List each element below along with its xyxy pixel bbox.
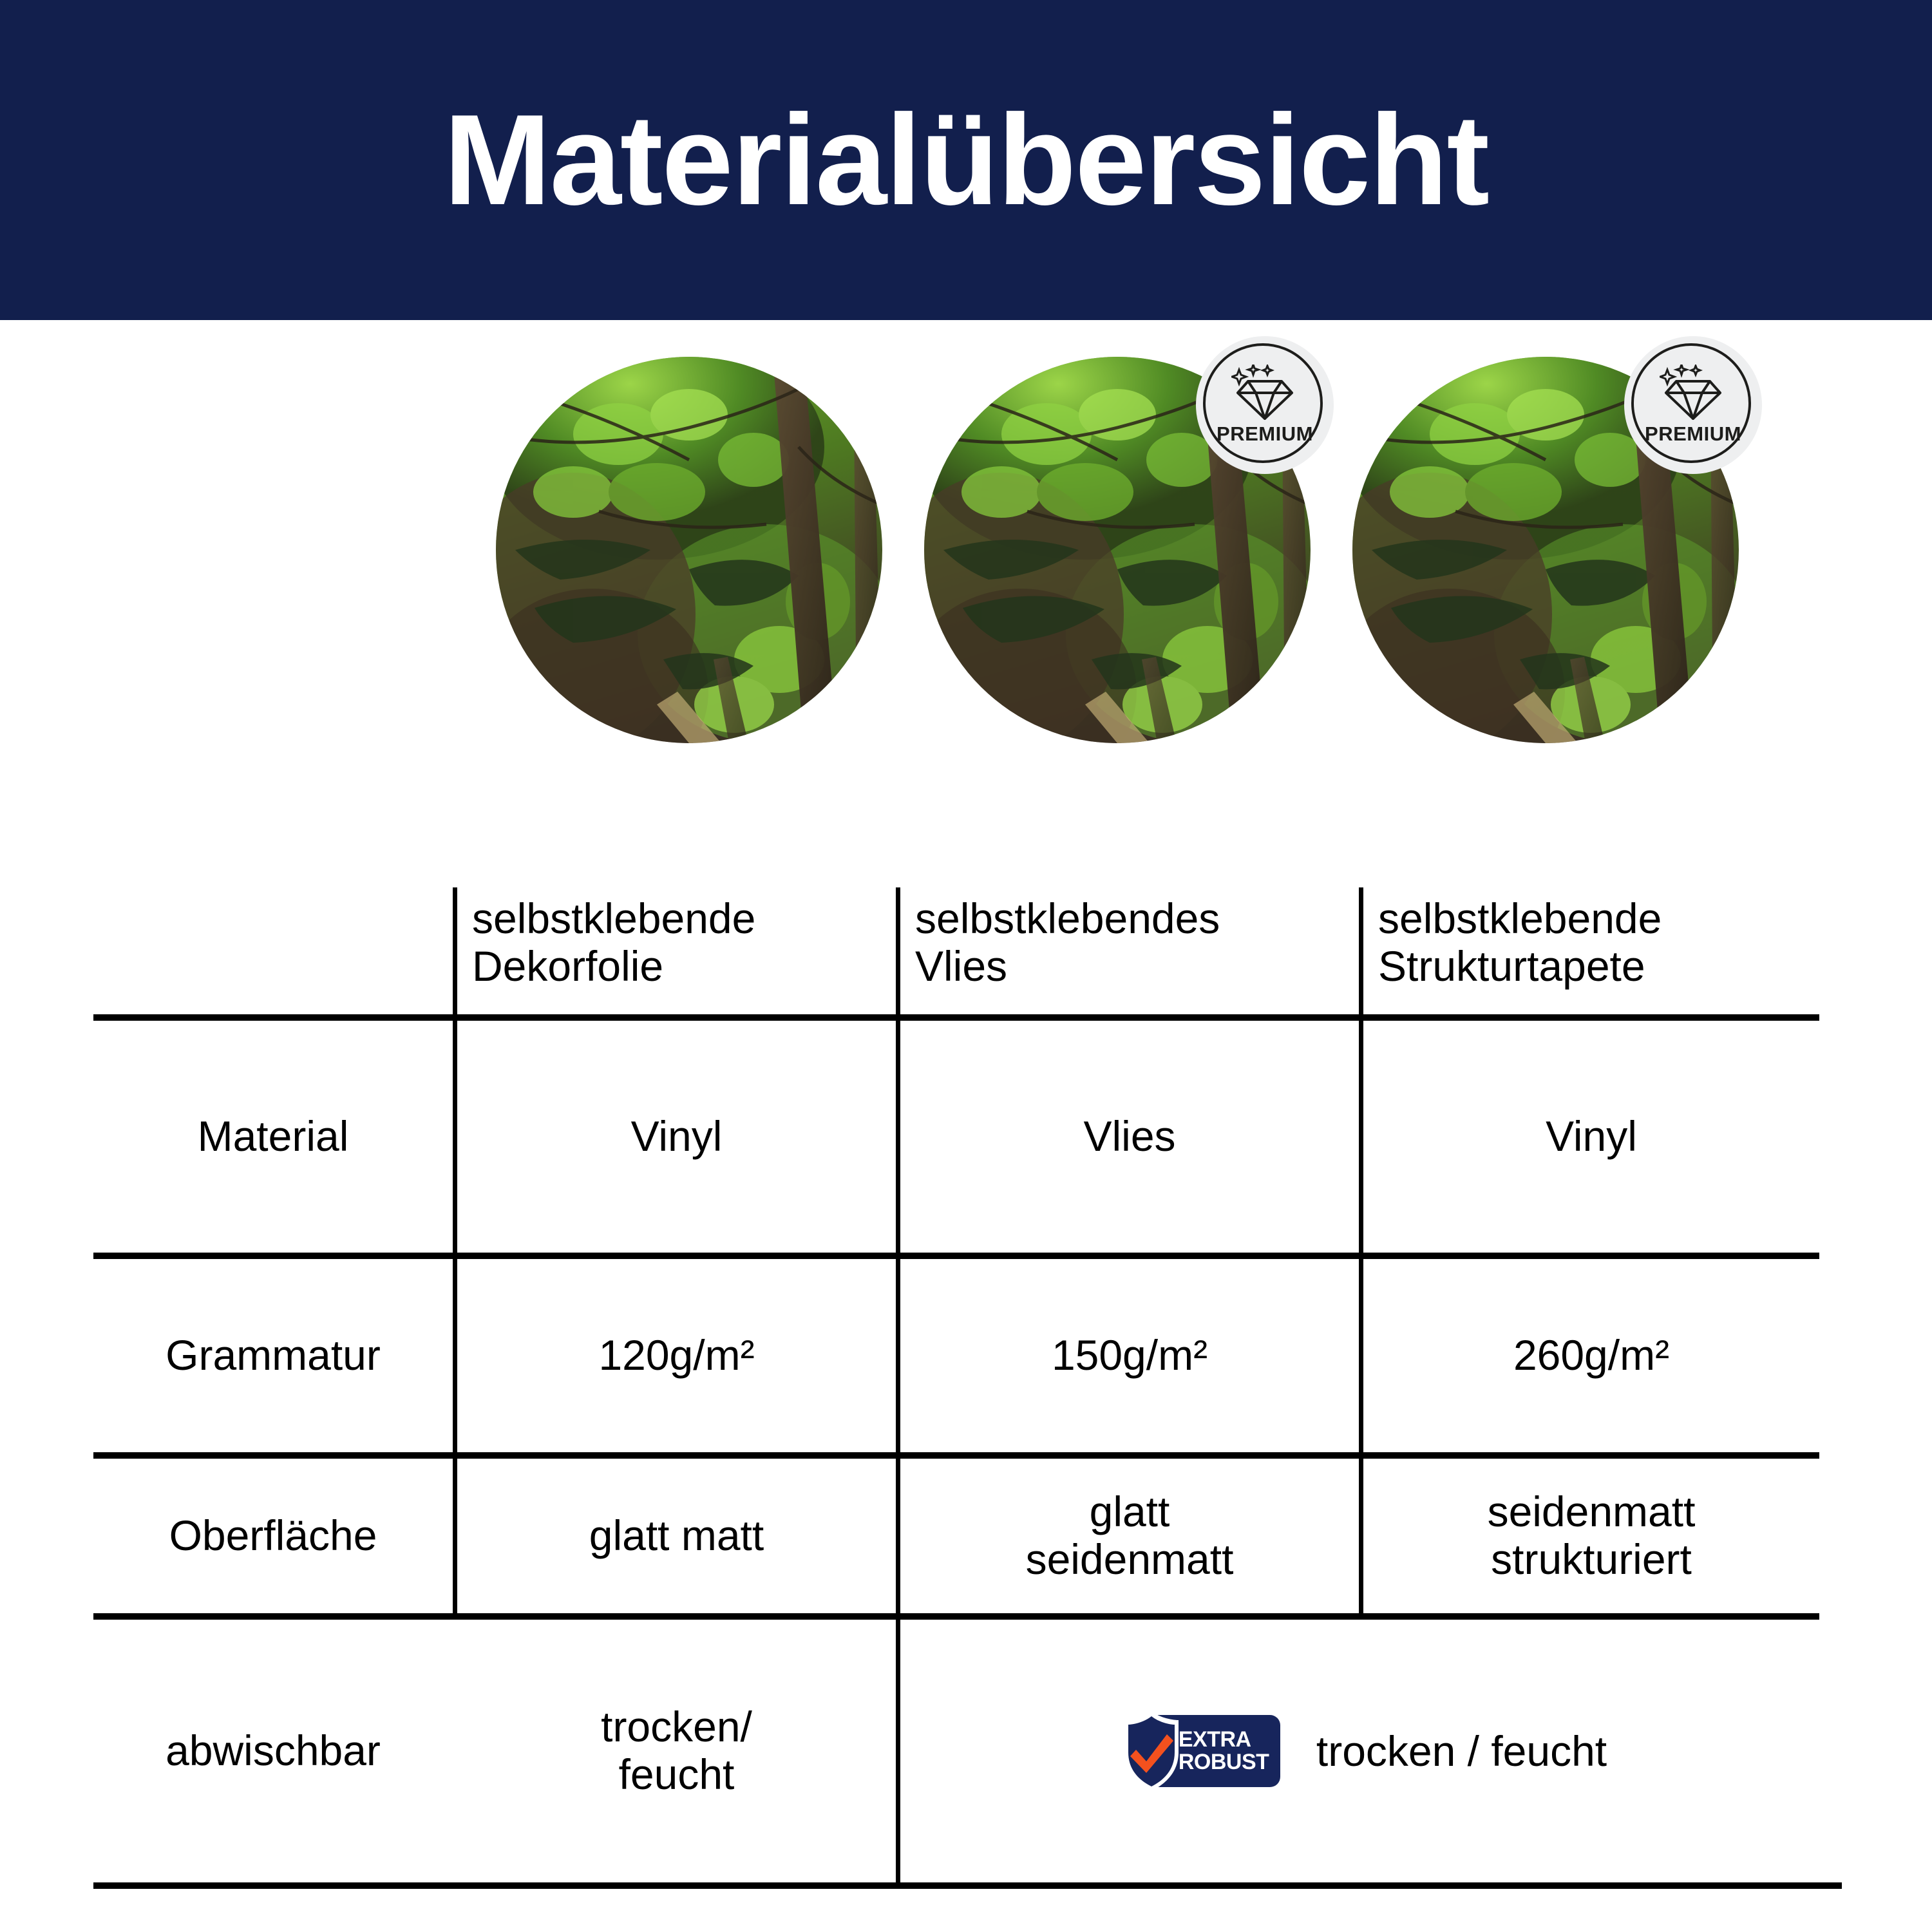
row-label-grammatur: Grammatur	[93, 1259, 453, 1452]
cell-abwischbar-dekorfolie: trocken/ feucht	[457, 1620, 896, 1882]
cell-oberflaeche-dekorfolie: glatt matt	[457, 1459, 896, 1613]
row-divider-2	[93, 1452, 1819, 1459]
row-label-grammatur-text: Grammatur	[166, 1332, 381, 1379]
premium-label: PREMIUM	[1217, 422, 1313, 446]
cell-material-dekorfolie: Vinyl	[457, 1021, 896, 1253]
column-header-2: selbstklebendes Vlies	[915, 887, 1347, 1014]
column-divider-1	[453, 887, 457, 1613]
row-label-abwischbar: abwischbar	[93, 1620, 453, 1882]
row-divider-header	[93, 1014, 1819, 1021]
product-image-3[interactable]: PREMIUM	[1352, 357, 1739, 743]
cell-abwischbar-merged: EXTRA ROBUST trocken / feucht	[900, 1620, 1819, 1882]
material-spec-table: selbstklebende Dekorfolie selbstklebende…	[93, 887, 1842, 1889]
cell-grammatur-strukturtapete: 260g/m²	[1363, 1259, 1819, 1452]
cell-grammatur-vlies: 150g/m²	[900, 1259, 1359, 1452]
row-label-oberflaeche: Oberfläche	[93, 1459, 453, 1613]
premium-badge: PREMIUM	[1624, 336, 1762, 474]
column-divider-2	[896, 887, 900, 1889]
column-header-3-line1: selbstklebende	[1378, 895, 1662, 943]
row-label-material: Material	[93, 1021, 453, 1253]
column-header-1-line1: selbstklebende	[472, 895, 755, 943]
column-header-3: selbstklebende Strukturtapete	[1378, 887, 1829, 1014]
column-header-1-line2: Dekorfolie	[472, 943, 755, 990]
column-header-2-line2: Vlies	[915, 943, 1220, 990]
column-header-2-line1: selbstklebendes	[915, 895, 1220, 943]
cell-oberflaeche-vlies: glatt seidenmatt	[900, 1459, 1359, 1613]
premium-label: PREMIUM	[1645, 422, 1741, 446]
forest-image-1	[496, 357, 882, 743]
column-header-3-line2: Strukturtapete	[1378, 943, 1662, 990]
shield-check-icon	[1121, 1710, 1182, 1792]
header-banner: Materialübersicht	[0, 0, 1932, 320]
page-title: Materialübersicht	[444, 96, 1488, 225]
cell-oberflaeche-strukturtapete: seidenmatt strukturiert	[1363, 1459, 1819, 1613]
column-divider-3	[1359, 887, 1363, 1613]
product-image-2[interactable]: PREMIUM	[924, 357, 1311, 743]
row-label-oberflaeche-text: Oberfläche	[169, 1512, 377, 1560]
diamond-icon	[1660, 365, 1727, 420]
row-label-abwischbar-text: abwischbar	[166, 1727, 381, 1775]
product-image-1[interactable]	[496, 357, 882, 743]
row-divider-1	[93, 1253, 1819, 1259]
column-header-1: selbstklebende Dekorfolie	[472, 887, 884, 1014]
cell-material-vlies: Vlies	[900, 1021, 1359, 1253]
extra-robust-badge: EXTRA ROBUST	[1113, 1710, 1280, 1792]
row-divider-bottom	[93, 1882, 1842, 1889]
row-divider-3	[93, 1613, 1819, 1620]
cell-material-strukturtapete: Vinyl	[1363, 1021, 1819, 1253]
premium-badge: PREMIUM	[1196, 336, 1334, 474]
extra-robust-line1: EXTRA	[1179, 1728, 1251, 1751]
row-label-material-text: Material	[198, 1113, 349, 1160]
product-images-row: PREMIUM	[0, 320, 1932, 842]
cell-grammatur-dekorfolie: 120g/m²	[457, 1259, 896, 1452]
extra-robust-line2: ROBUST	[1179, 1751, 1269, 1774]
diamond-icon	[1231, 365, 1298, 420]
cell-abwischbar-merged-text: trocken / feucht	[1316, 1727, 1607, 1776]
